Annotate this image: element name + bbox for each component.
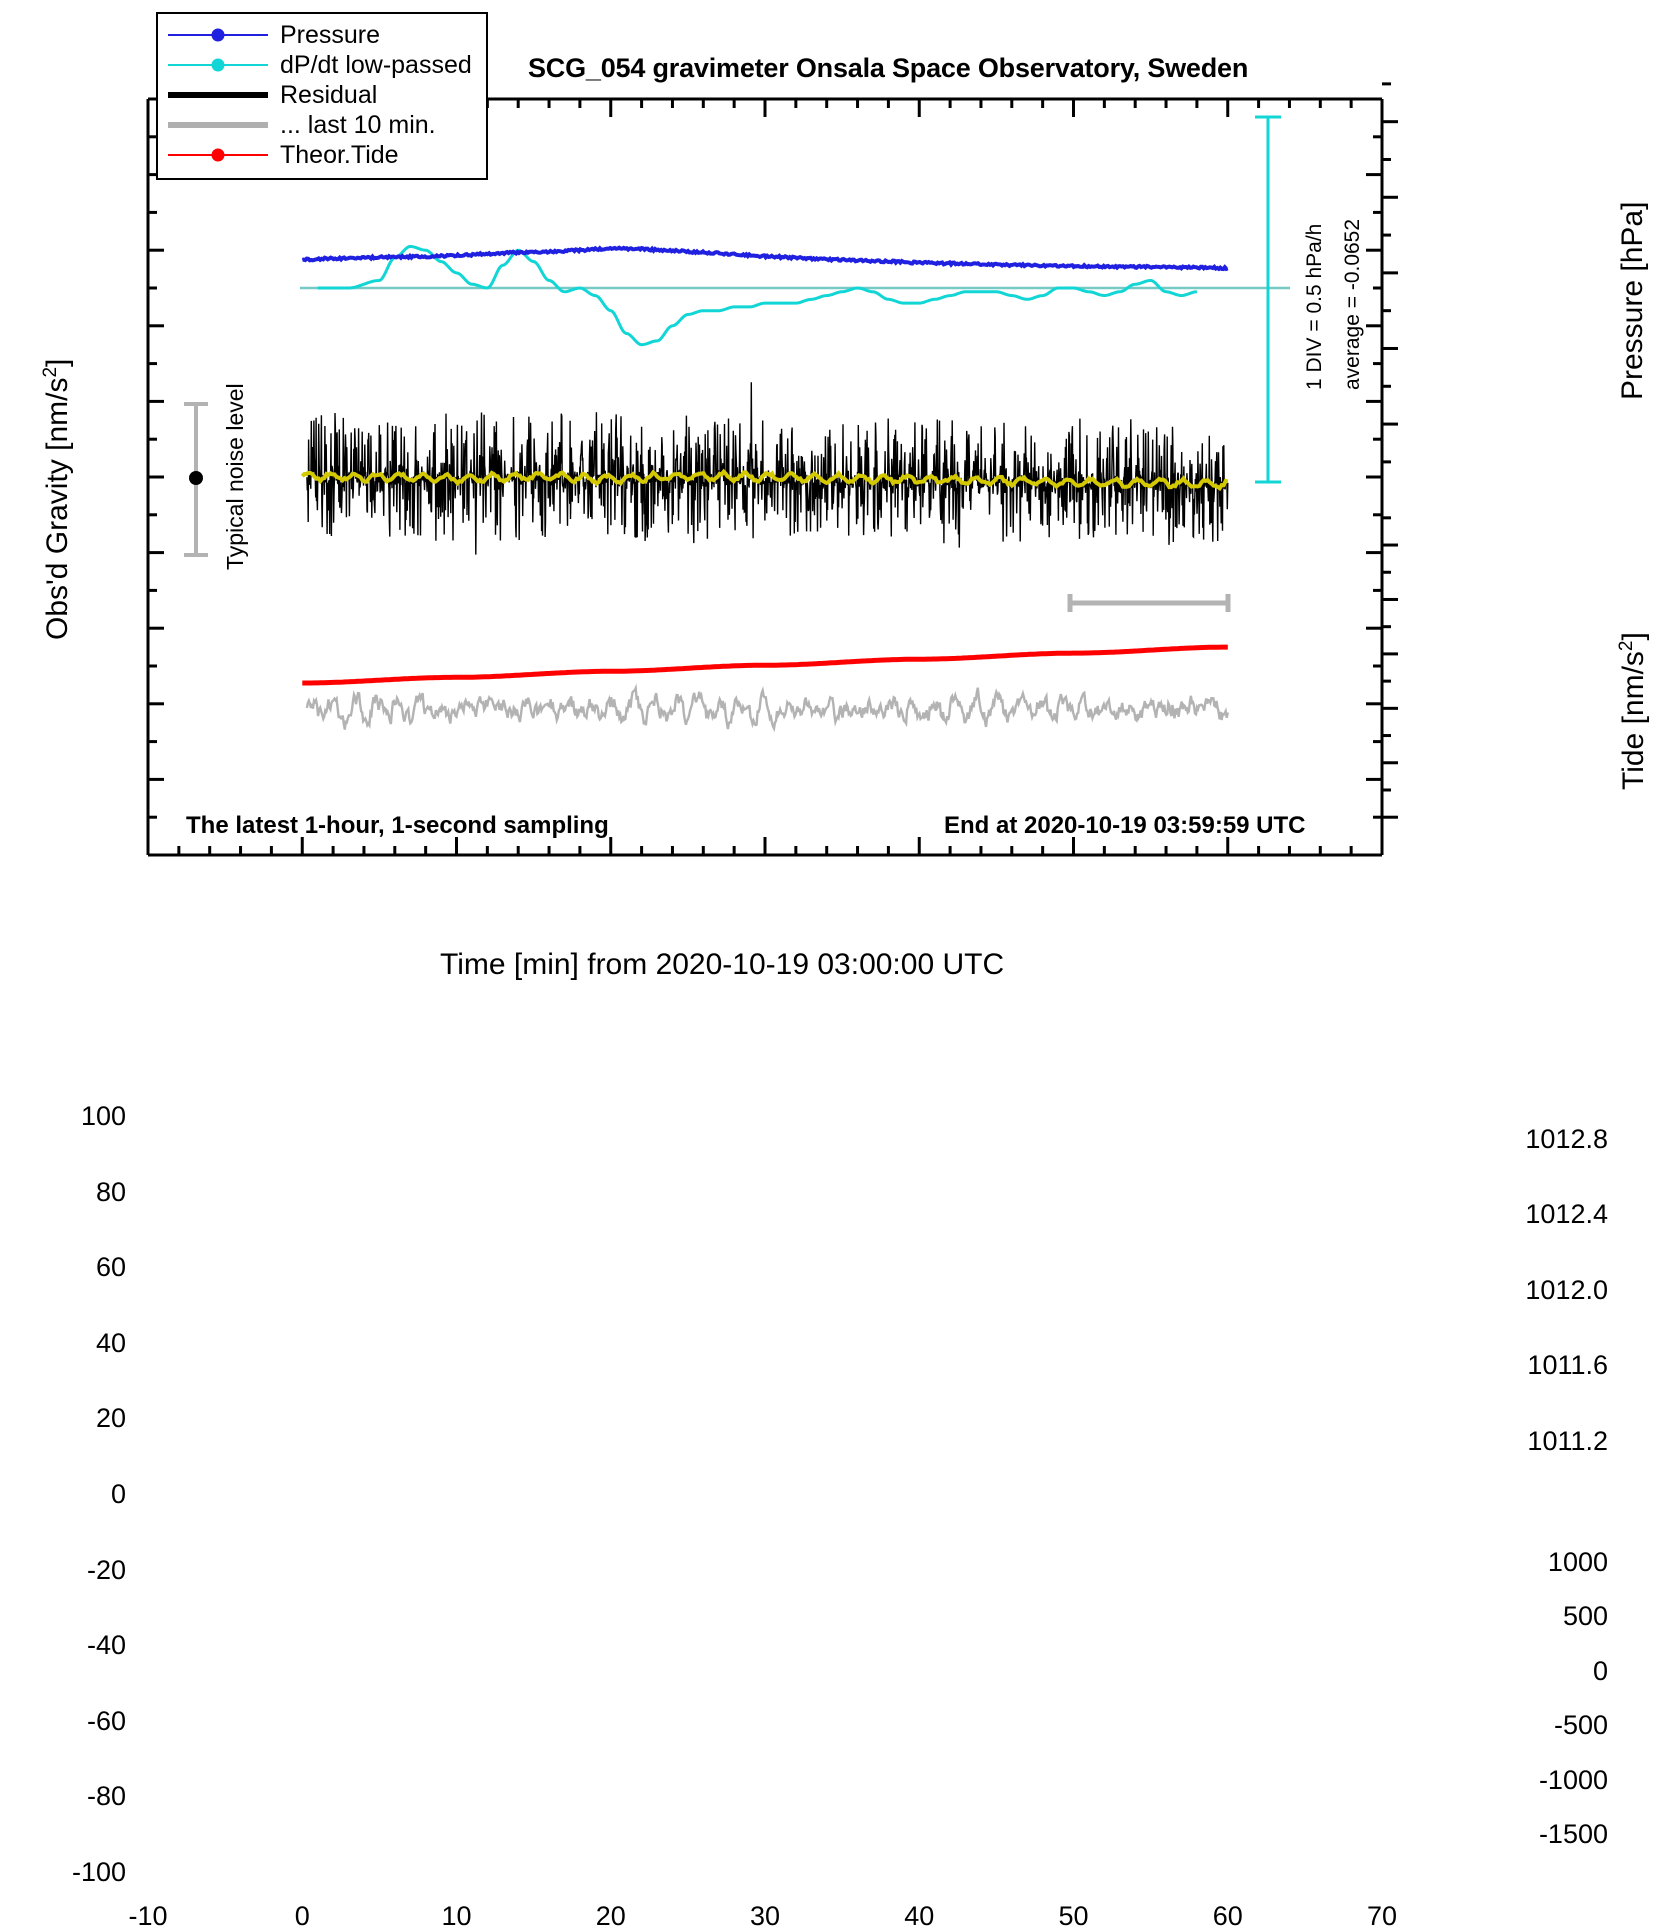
axis-tick-label: 0 bbox=[242, 1901, 362, 1932]
series-residual bbox=[307, 382, 1228, 554]
axis-tick-label: 80 bbox=[0, 1177, 126, 1208]
axis-tick-label: 70 bbox=[1322, 1901, 1442, 1932]
tide-axis-title-exponent: 2 bbox=[1616, 640, 1637, 651]
typical-noise-level-marker bbox=[184, 404, 208, 555]
axis-tick-label: 40 bbox=[0, 1328, 126, 1359]
axis-tick-label: 1012.8 bbox=[1408, 1124, 1608, 1155]
axis-tick-label: -80 bbox=[0, 1781, 126, 1812]
legend-item-label: Theor.Tide bbox=[280, 141, 399, 170]
legend-swatch bbox=[168, 53, 268, 77]
right-axis-ticks bbox=[1382, 84, 1398, 817]
axis-tick-label: 0 bbox=[0, 1479, 126, 1510]
axis-tick-label: 50 bbox=[1014, 1901, 1134, 1932]
legend-dot-glyph bbox=[212, 59, 225, 72]
axis-tick-label: 1012.0 bbox=[1408, 1275, 1608, 1306]
legend-item-pressure[interactable]: Pressure bbox=[168, 20, 472, 50]
div-scale-label: 1 DIV = 0.5 hPa/h bbox=[1303, 224, 1327, 390]
axis-tick-label: -500 bbox=[1408, 1710, 1608, 1741]
bottom-axis-title: Time [min] from 2020-10-19 03:00:00 UTC bbox=[440, 948, 1004, 982]
tide-axis-title: Tide [nm/s2] bbox=[1616, 632, 1651, 790]
series-tide-grey bbox=[307, 688, 1228, 730]
axis-tick-label: -100 bbox=[0, 1857, 126, 1888]
bottom-left-note: The latest 1-hour, 1-second sampling bbox=[186, 812, 609, 840]
legend: PressuredP/dt low-passedResidual... last… bbox=[156, 12, 488, 180]
legend-dot-glyph bbox=[212, 149, 225, 162]
legend-item-residual[interactable]: Residual bbox=[168, 80, 472, 110]
series-pressure bbox=[302, 248, 1228, 269]
left-axis-title-tail: ] bbox=[41, 359, 74, 367]
legend-item-last-10-min[interactable]: ... last 10 min. bbox=[168, 110, 472, 140]
tide-axis-title-tail: ] bbox=[1617, 632, 1650, 640]
axis-tick-label: 20 bbox=[0, 1403, 126, 1434]
axis-tick-label: 0 bbox=[1408, 1656, 1608, 1687]
legend-swatch bbox=[168, 23, 268, 47]
legend-swatch bbox=[168, 83, 268, 107]
axis-tick-label: 10 bbox=[397, 1901, 517, 1932]
chart-canvas: SCG_054 gravimeter Onsala Space Observat… bbox=[0, 0, 1660, 1020]
axis-tick-label: -60 bbox=[0, 1706, 126, 1737]
legend-item-label: ... last 10 min. bbox=[280, 111, 436, 140]
axis-tick-label: -1500 bbox=[1408, 1819, 1608, 1850]
typical-noise-level-label: Typical noise level bbox=[222, 383, 249, 570]
div-scale-marker bbox=[1255, 117, 1281, 482]
axis-tick-label: 60 bbox=[0, 1252, 126, 1283]
axis-tick-label: 1000 bbox=[1408, 1547, 1608, 1578]
left-axis-title-exponent: 2 bbox=[40, 367, 61, 378]
axis-tick-label: 1012.4 bbox=[1408, 1199, 1608, 1230]
legend-dot-glyph bbox=[212, 29, 225, 42]
axis-tick-label: -20 bbox=[0, 1555, 126, 1586]
axis-tick-label: 100 bbox=[0, 1101, 126, 1132]
pressure-axis-title: Pressure [hPa] bbox=[1616, 202, 1650, 400]
page-title: SCG_054 gravimeter Onsala Space Observat… bbox=[528, 53, 1248, 84]
bottom-right-note: End at 2020-10-19 03:59:59 UTC bbox=[944, 812, 1306, 840]
axis-tick-label: -1000 bbox=[1408, 1765, 1608, 1796]
axis-tick-label: 20 bbox=[551, 1901, 671, 1932]
series-theor-tide bbox=[302, 647, 1228, 683]
legend-item-label: Residual bbox=[280, 81, 377, 110]
axis-tick-label: -10 bbox=[88, 1901, 208, 1932]
last-10min-marker bbox=[1070, 594, 1228, 612]
axis-tick-label: 1011.2 bbox=[1408, 1426, 1608, 1457]
left-axis-title: Obs'd Gravity [nm/s2] bbox=[40, 359, 75, 640]
axis-tick-label: 30 bbox=[705, 1901, 825, 1932]
axis-tick-label: 500 bbox=[1408, 1601, 1608, 1632]
legend-item-label: Pressure bbox=[280, 21, 380, 50]
legend-line-glyph bbox=[168, 122, 268, 128]
legend-line-glyph bbox=[168, 92, 268, 98]
axis-tick-label: 40 bbox=[859, 1901, 979, 1932]
legend-swatch bbox=[168, 143, 268, 167]
series-dpdt bbox=[318, 246, 1197, 344]
axis-tick-label: 60 bbox=[1168, 1901, 1288, 1932]
legend-item-label: dP/dt low-passed bbox=[280, 51, 472, 80]
tide-axis-title-text: Tide [nm/s bbox=[1617, 651, 1650, 790]
axis-tick-label: 1011.6 bbox=[1408, 1350, 1608, 1381]
axis-tick-label: -40 bbox=[0, 1630, 126, 1661]
legend-item-theor-tide[interactable]: Theor.Tide bbox=[168, 140, 472, 170]
data-traces bbox=[300, 246, 1290, 729]
legend-item-dp-dt-low-passed[interactable]: dP/dt low-passed bbox=[168, 50, 472, 80]
average-label: average = -0.0652 bbox=[1341, 219, 1365, 390]
legend-swatch bbox=[168, 113, 268, 137]
left-axis-title-text: Obs'd Gravity [nm/s bbox=[41, 378, 74, 640]
